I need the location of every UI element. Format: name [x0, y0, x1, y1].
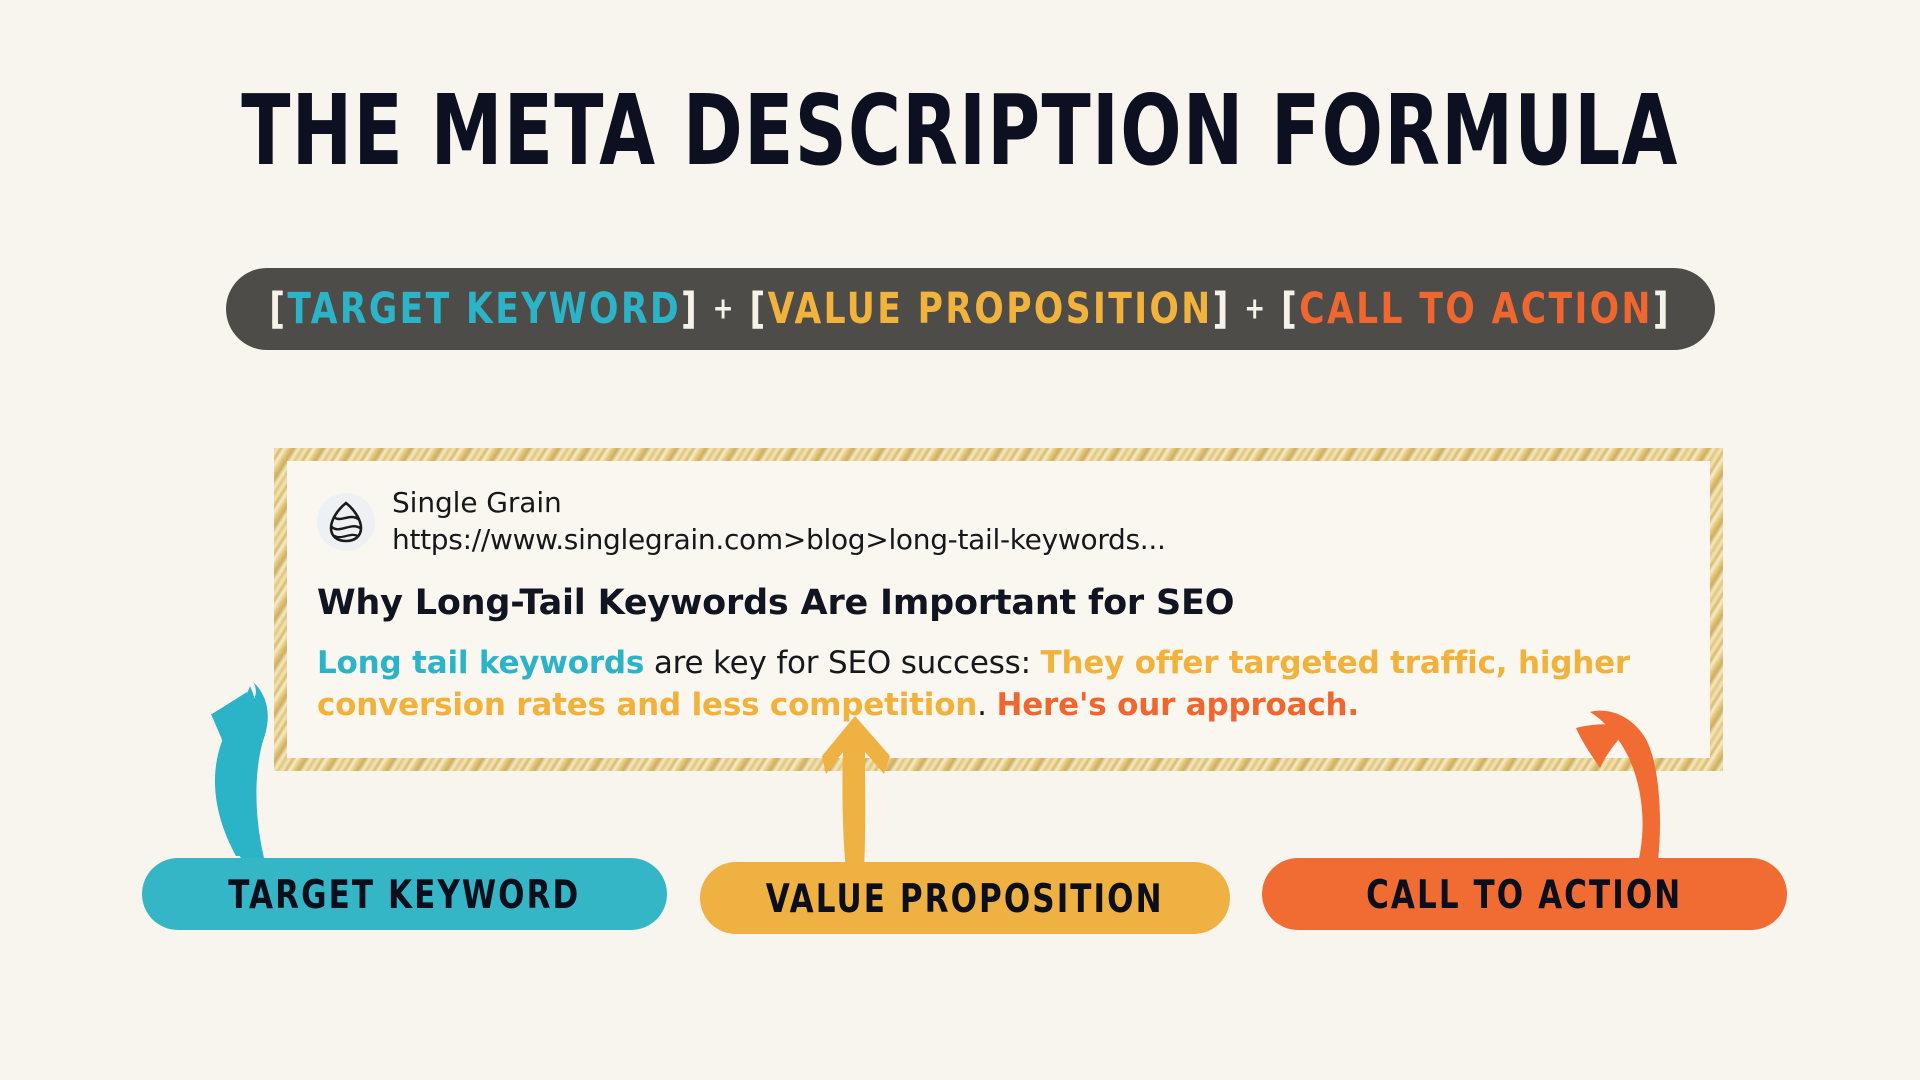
plus-sign-1: + [700, 291, 750, 326]
formula-part-target-keyword: TARGET KEYWORD [288, 285, 682, 333]
serp-meta-description: Long tail keywords are key for SEO succe… [317, 642, 1657, 726]
desc-call-to-action: Here's our approach. [996, 687, 1359, 723]
infographic-canvas: THE META DESCRIPTION FORMULA [TARGET KEY… [0, 0, 1920, 1080]
serp-result-card: Single Grain https://www.singlegrain.com… [274, 448, 1723, 771]
formula-part-call-to-action: CALL TO ACTION [1300, 285, 1654, 333]
bracket-open-2: [ [750, 285, 768, 333]
bracket-open-1: [ [270, 285, 288, 333]
plus-sign-2: + [1231, 291, 1281, 326]
page-title: THE META DESCRIPTION FORMULA [115, 84, 1805, 181]
pill-call-to-action[interactable]: CALL TO ACTION [1262, 858, 1787, 930]
pill-value-proposition-label: VALUE PROPOSITION [766, 875, 1164, 921]
bracket-close-3: ] [1653, 285, 1671, 333]
serp-card-inner: Single Grain https://www.singlegrain.com… [287, 461, 1710, 758]
pill-target-keyword[interactable]: TARGET KEYWORD [142, 858, 667, 930]
formula-expression: [TARGET KEYWORD] + [VALUE PROPOSITION] +… [270, 285, 1672, 333]
serp-site-info: Single Grain https://www.singlegrain.com… [392, 485, 1166, 559]
pill-target-keyword-label: TARGET KEYWORD [228, 871, 580, 917]
arrow-call-to-action-icon [1566, 698, 1706, 880]
formula-part-value-proposition: VALUE PROPOSITION [768, 285, 1213, 333]
bracket-open-3: [ [1281, 285, 1299, 333]
arrow-value-proposition-icon [808, 712, 916, 872]
desc-connector-2: . [977, 687, 996, 723]
serp-header: Single Grain https://www.singlegrain.com… [317, 485, 1680, 559]
arrow-target-keyword-icon [190, 678, 310, 863]
desc-target-keyword: Long tail keywords [317, 645, 644, 681]
pill-value-proposition[interactable]: VALUE PROPOSITION [700, 862, 1230, 934]
formula-bar: [TARGET KEYWORD] + [VALUE PROPOSITION] +… [226, 268, 1715, 350]
bracket-close-1: ] [681, 285, 699, 333]
serp-result-title[interactable]: Why Long-Tail Keywords Are Important for… [317, 583, 1680, 623]
serp-site-name: Single Grain [392, 485, 1166, 522]
serp-url[interactable]: https://www.singlegrain.com>blog>long-ta… [392, 522, 1166, 559]
single-grain-logo-icon [317, 493, 375, 551]
bracket-close-2: ] [1213, 285, 1231, 333]
pill-call-to-action-label: CALL TO ACTION [1366, 871, 1682, 917]
desc-connector-1: are key for SEO success: [644, 645, 1040, 681]
